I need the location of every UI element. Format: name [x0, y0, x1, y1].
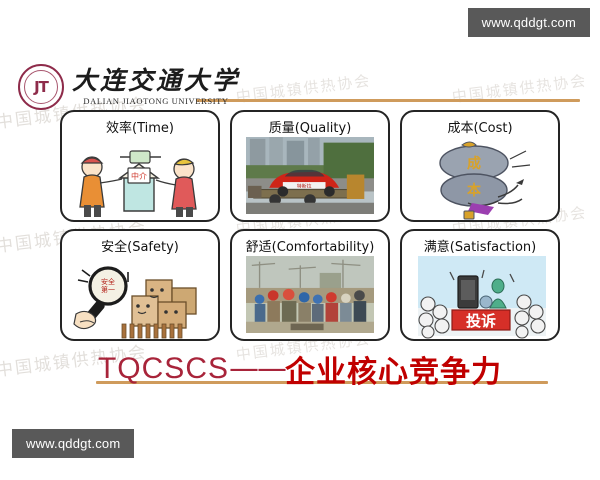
card-illustration-safety: 安全 第一: [62, 256, 218, 335]
cartoon-two-people-and-house-icon: 中介: [62, 137, 220, 221]
complaint-desk-crowd-icon: 投诉: [402, 256, 560, 340]
page-title: TQCSCS——企业核心竞争力: [0, 347, 600, 391]
card-row-top: 效率(Time) 中介: [60, 110, 560, 222]
logo-chinese-name: 大连交通大学: [72, 68, 240, 94]
magnifier-inspecting-boxes-icon: 安全 第一: [62, 256, 220, 340]
photo-red-car-on-tow-truck: 特斯拉: [246, 137, 374, 214]
title-english: TQCSCS: [98, 352, 229, 385]
card-row-bottom: 安全(Safety): [60, 229, 560, 341]
svg-text:安全: 安全: [101, 277, 115, 286]
card-illustration-time: 中介: [62, 137, 218, 216]
svg-text:投诉: 投诉: [466, 312, 496, 330]
university-seal-icon: JT: [18, 64, 64, 110]
cartoon-boulders-crushing-person-icon: 成 本: [402, 137, 560, 221]
photo-construction-workers-resting: [246, 256, 374, 333]
svg-text:特斯拉: 特斯拉: [297, 183, 312, 190]
logo-wordmark: 大连交通大学 DALIAN JIAOTONG UNIVERSITY: [72, 68, 240, 106]
card-safety[interactable]: 安全(Safety): [60, 229, 220, 341]
card-quality[interactable]: 质量(Quality): [230, 110, 390, 222]
card-satisfaction[interactable]: 满意(Satisfaction): [400, 229, 560, 341]
card-time[interactable]: 效率(Time) 中介: [60, 110, 220, 222]
seal-glyph: JT: [20, 66, 62, 108]
card-label: 效率(Time): [62, 117, 218, 136]
card-label: 满意(Satisfaction): [402, 236, 558, 255]
svg-text:中介: 中介: [131, 171, 147, 181]
card-label: 成本(Cost): [402, 117, 558, 136]
svg-text:本: 本: [467, 182, 482, 199]
card-grid: 效率(Time) 中介: [60, 110, 560, 341]
title-chinese: 企业核心竞争力: [285, 355, 502, 390]
top-divider-rule: [196, 99, 580, 102]
card-label: 舒适(Comfortability): [232, 236, 388, 255]
tow-truck-photo: 特斯拉: [246, 137, 374, 214]
slide-canvas: 中国城镇供热协会 中国城镇供热协会 中国城镇供热协会 中国城镇供热协会 中国城镇…: [0, 0, 600, 480]
card-label: 安全(Safety): [62, 236, 218, 255]
svg-text:成: 成: [467, 155, 481, 172]
site-url-badge-bottom: www.qddgt.com: [12, 429, 134, 458]
logo-english-name: DALIAN JIAOTONG UNIVERSITY: [72, 96, 240, 106]
title-dash: ——: [229, 352, 285, 387]
workers-photo: [246, 256, 374, 333]
university-logo: JT 大连交通大学 DALIAN JIAOTONG UNIVERSITY: [18, 64, 240, 110]
card-illustration-satisfaction: 投诉: [402, 256, 558, 335]
card-comfortability[interactable]: 舒适(Comfortability): [230, 229, 390, 341]
card-illustration-cost: 成 本: [402, 137, 558, 216]
svg-text:第一: 第一: [101, 285, 115, 294]
card-illustration-comfortability: [232, 256, 388, 335]
card-label: 质量(Quality): [232, 117, 388, 136]
card-illustration-quality: 特斯拉: [232, 137, 388, 216]
card-cost[interactable]: 成本(Cost) 成 本: [400, 110, 560, 222]
site-url-badge-top: www.qddgt.com: [468, 8, 590, 37]
